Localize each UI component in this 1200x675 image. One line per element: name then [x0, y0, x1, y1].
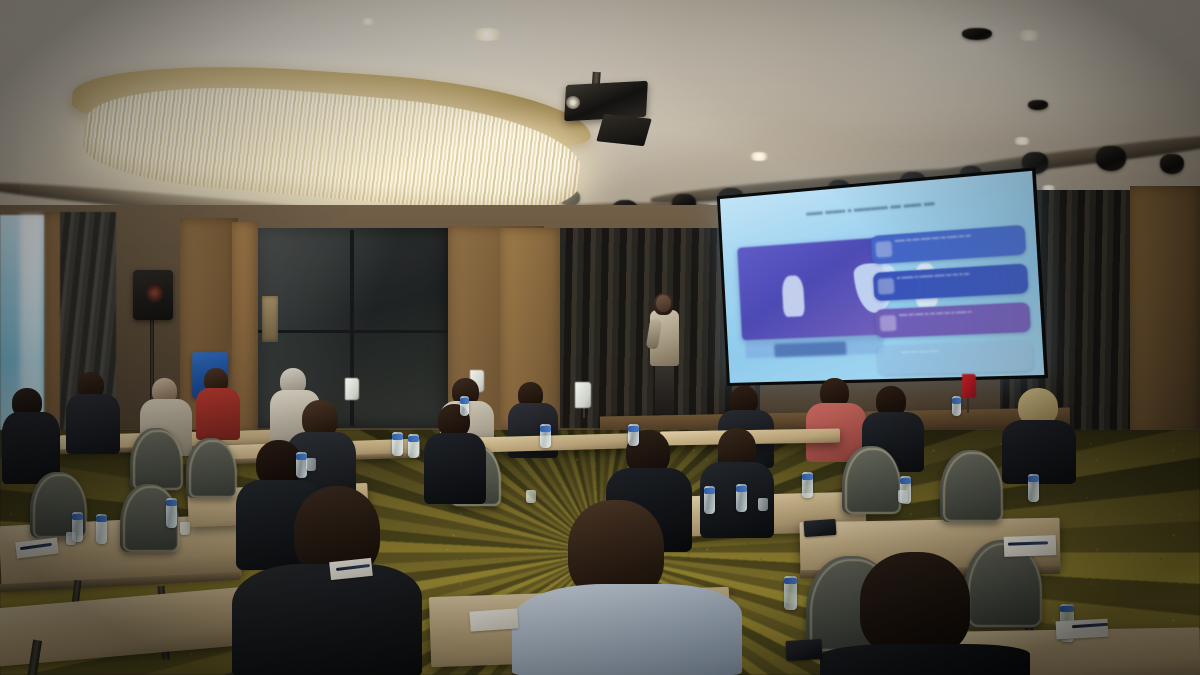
notepad — [1056, 619, 1109, 640]
red-flag — [962, 374, 976, 398]
attendee — [196, 368, 240, 440]
slide-bullet-box: ••••• ••• ••••• •• ••• •••• ••• •• •••••… — [875, 302, 1031, 339]
water-bottle — [166, 498, 177, 528]
notepad — [1004, 535, 1057, 557]
spotlight-icon — [1160, 154, 1184, 174]
water-bottle — [736, 484, 747, 512]
projector-arm — [596, 114, 652, 146]
projection-screen: ••••• •••••• • •••••••••• ••• ••••• ••• … — [717, 167, 1048, 386]
slide-bullet-text: ••••• •••• ••••• •••••• — [901, 346, 1023, 357]
water-bottle — [460, 396, 469, 416]
attendee-torso — [512, 584, 742, 675]
downlight-icon — [470, 28, 504, 41]
illustration-figure — [782, 275, 805, 318]
projection-screen-surface: ••••• •••••• • •••••••••• ••• ••••• ••• … — [720, 171, 1044, 383]
bullet-icon — [876, 241, 893, 257]
downlight-icon — [748, 152, 770, 161]
water-bottle — [704, 486, 715, 514]
projector-lens-icon — [566, 96, 580, 109]
slide-bullet-text: •• ••••••• •• •••••••• •••••• ••• ••• ••… — [897, 269, 1018, 283]
attendee-torso — [424, 433, 486, 504]
attendee-head — [860, 552, 970, 656]
slide-bullet-text: ••••• ••• ••••• •• ••• •••• ••• •• •••••… — [899, 307, 1021, 319]
attendee-torso — [196, 388, 240, 440]
white-flag — [345, 378, 359, 400]
attendee-torso — [1002, 420, 1076, 484]
spotlight-icon — [962, 28, 992, 40]
white-flag — [575, 382, 591, 408]
water-bottle — [408, 434, 419, 458]
drinking-glass — [306, 458, 316, 471]
presenter-head — [656, 295, 671, 312]
slide-bullet-text: •••••• ••• •••• •••••• •••• ••• •••••• •… — [895, 230, 1016, 245]
slide-bullet-box: •••••• ••• •••• •••••• •••• ••• •••••• •… — [871, 225, 1027, 265]
notepad — [469, 608, 518, 631]
chair-trim — [943, 452, 1003, 522]
chair-trim — [189, 440, 237, 498]
water-bottle — [952, 396, 961, 416]
presenter — [645, 295, 685, 415]
downlight-icon — [1016, 30, 1042, 41]
wall-signage-plate — [262, 296, 278, 342]
mobile-phone — [786, 639, 823, 661]
speaker-cone-icon — [146, 283, 163, 303]
drinking-glass — [898, 490, 908, 503]
slide-title: ••••• •••••• • •••••••••• ••• ••••• ••• — [735, 193, 1017, 226]
chandelier — [72, 72, 592, 200]
water-bottle — [802, 472, 813, 498]
door-mullion — [258, 330, 448, 333]
water-bottle — [784, 576, 797, 610]
water-bottle — [1028, 474, 1039, 502]
slide-bullet-box: •• ••••••• •• •••••••• •••••• ••• ••• ••… — [873, 263, 1029, 301]
attendee — [512, 500, 742, 675]
chair-trim — [133, 430, 183, 490]
attendee — [66, 372, 120, 454]
water-bottle — [96, 514, 107, 544]
conference-room-photo: ••••• •••••• • •••••••••• ••• ••••• ••• … — [0, 0, 1200, 675]
water-bottle — [540, 424, 551, 448]
presenter-legs — [655, 363, 674, 415]
attendee — [232, 486, 422, 675]
chair-trim — [845, 448, 901, 514]
drinking-glass — [526, 490, 536, 503]
slide-bullet-box: ••••• •••• ••••• •••••• — [877, 341, 1034, 376]
drinking-glass — [180, 522, 190, 535]
spotlight-icon — [1096, 146, 1126, 171]
mobile-phone — [803, 519, 836, 537]
attendee-torso — [232, 564, 422, 675]
attendee — [1002, 388, 1076, 484]
attendee — [820, 552, 1030, 675]
downlight-icon — [1012, 137, 1032, 145]
attendee-torso — [66, 394, 120, 454]
slide-logo — [774, 342, 847, 358]
spotlight-icon — [1028, 100, 1048, 110]
drinking-glass — [758, 498, 768, 511]
bullet-icon — [878, 278, 895, 294]
downlight-icon — [360, 18, 376, 25]
water-bottle — [392, 432, 403, 456]
wood-wall-panel — [1130, 186, 1200, 436]
attendee-torso — [820, 644, 1030, 675]
attendee — [2, 388, 60, 484]
bullet-icon — [880, 315, 897, 331]
attendee — [424, 404, 486, 504]
drinking-glass — [66, 532, 76, 545]
water-bottle — [628, 424, 639, 446]
